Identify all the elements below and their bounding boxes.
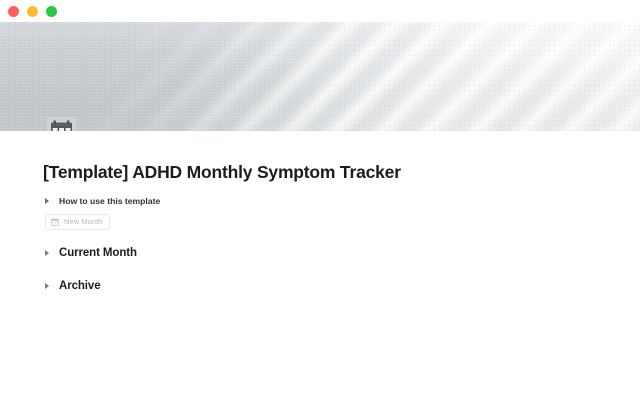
calendar-icon — [51, 218, 59, 226]
toggle-how-to-use-this-template[interactable]: How to use this template — [43, 192, 640, 209]
cover-vignette-layer — [0, 22, 640, 131]
page-content: [Template] ADHD Monthly Symptom Tracker … — [0, 131, 640, 297]
maximize-window-button[interactable] — [46, 6, 57, 17]
page-cover-image[interactable] — [0, 22, 640, 131]
window-titlebar — [0, 0, 640, 22]
new-month-label: New Month — [64, 217, 102, 227]
new-month-button[interactable]: New Month — [45, 214, 110, 230]
toggle-current-month[interactable]: Current Month — [43, 242, 640, 264]
chevron-right-icon[interactable] — [43, 249, 52, 258]
minimize-window-button[interactable] — [27, 6, 38, 17]
traffic-light-group — [8, 6, 57, 17]
chevron-right-icon[interactable] — [43, 196, 52, 205]
chevron-right-icon[interactable] — [43, 282, 52, 291]
toggle-heading-label: Archive — [59, 278, 101, 294]
toggle-archive[interactable]: Archive — [43, 275, 640, 297]
toggle-label: How to use this template — [59, 195, 160, 207]
toggle-heading-label: Current Month — [59, 245, 137, 261]
block-list: How to use this template — [0, 183, 640, 297]
new-month-button-wrapper: New Month — [43, 213, 640, 231]
page-title[interactable]: [Template] ADHD Monthly Symptom Tracker — [0, 131, 640, 183]
close-window-button[interactable] — [8, 6, 19, 17]
app-window: [Template] ADHD Monthly Symptom Tracker … — [0, 0, 640, 400]
